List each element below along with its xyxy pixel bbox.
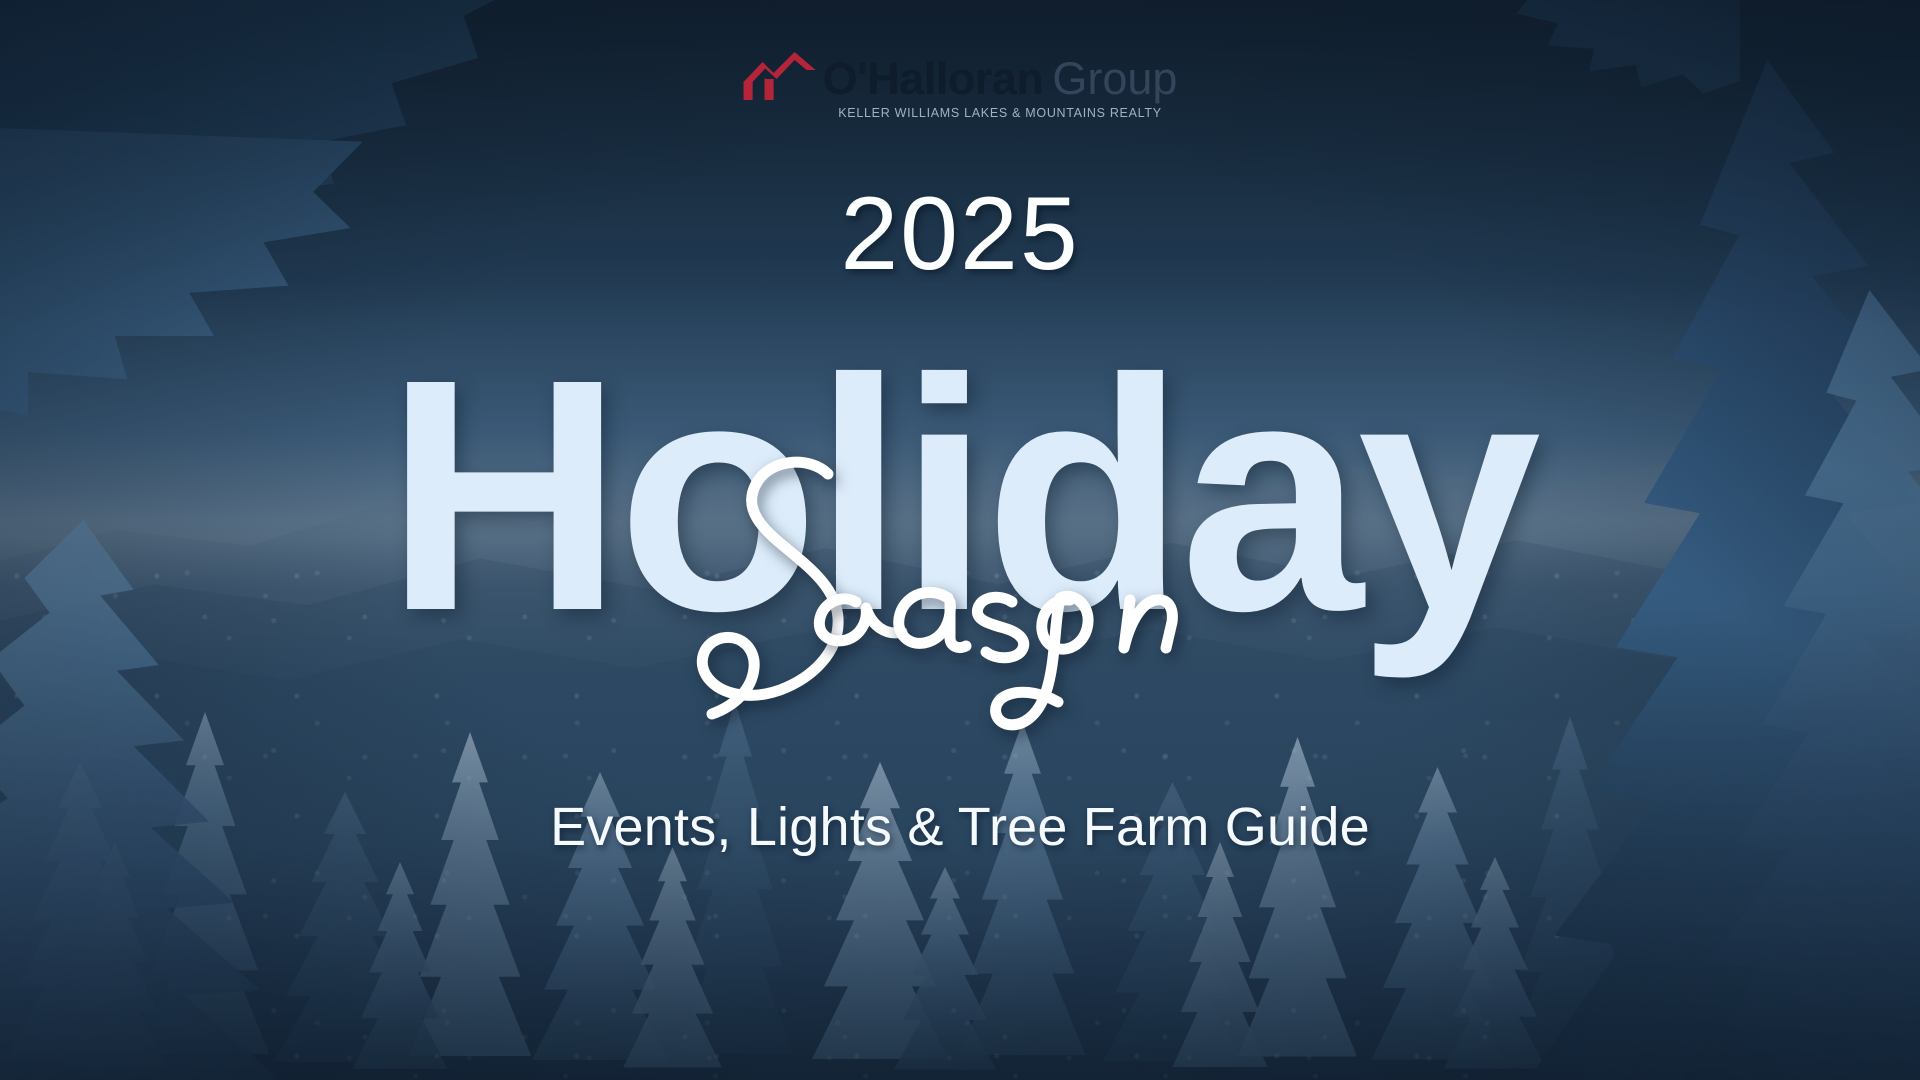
subtitle-text: Events, Lights & Tree Farm Guide [550,800,1370,854]
logo-group: Group [1052,56,1177,101]
logo-tagline: KELLER WILLIAMS LAKES & MOUNTAINS REALTY [823,107,1178,120]
hero-title-block: 2025 Holiday Events, Lights & Tree Farm … [0,0,1920,1080]
roofline-m-icon [743,48,817,112]
logo-name: O'Halloran [823,56,1044,101]
year-label: 2025 [840,182,1079,286]
logo-wordmark: O'Halloran Group KELLER WILLIAMS LAKES &… [823,42,1178,120]
holiday-guide-hero-banner: O'Halloran Group KELLER WILLIAMS LAKES &… [0,0,1920,1080]
script-season [660,452,1280,782]
brand-logo[interactable]: O'Halloran Group KELLER WILLIAMS LAKES &… [743,42,1178,120]
